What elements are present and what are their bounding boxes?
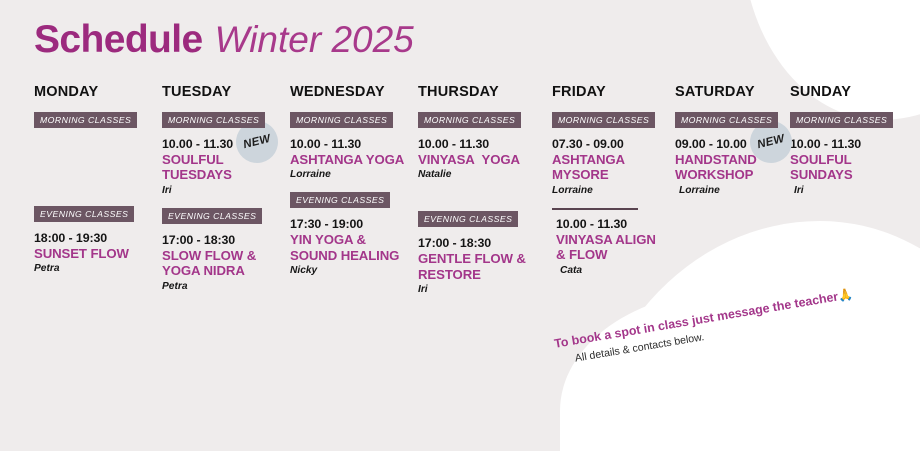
class-title: VINYASA ALIGN & FLOW	[556, 232, 667, 263]
class-time: 10.00 - 11.30	[290, 137, 410, 151]
schedule-poster: ScheduleWinter 2025 MONDAY MORNING CLASS…	[0, 0, 920, 451]
class-entry[interactable]: 10.00 - 11.30 VINYASA YOGA Natalie	[418, 137, 544, 180]
section-badge-morning-wednesday: MORNING CLASSES	[290, 112, 393, 128]
class-time: 10.00 - 11.30	[418, 137, 544, 151]
class-entry[interactable]: 17:30 - 19:00 YIN YOGA & SOUND HEALING N…	[290, 217, 410, 276]
page-title: ScheduleWinter 2025	[34, 20, 414, 59]
day-header-monday: MONDAY	[34, 84, 154, 100]
day-column-tuesday: TUESDAY MORNING CLASSES 10.00 - 11.30 SO…	[162, 84, 290, 292]
class-entry[interactable]: 10.00 - 11.30 VINYASA ALIGN & FLOW Cata	[552, 217, 667, 276]
class-title: ASHTANGA YOGA	[290, 152, 410, 167]
day-header-tuesday: TUESDAY	[162, 84, 282, 100]
class-divider	[552, 208, 638, 210]
class-title: SUNSET FLOW	[34, 246, 154, 261]
section-badge-morning-friday: MORNING CLASSES	[552, 112, 655, 128]
section-badge-evening-tuesday: EVENING CLASSES	[162, 208, 262, 224]
class-teacher: Petra	[34, 263, 154, 274]
class-time: 17:00 - 18:30	[162, 233, 282, 247]
class-teacher: Iri	[418, 284, 544, 295]
class-entry[interactable]: 17:00 - 18:30 GENTLE FLOW & RESTORE Iri	[418, 236, 544, 295]
page-title-main: Schedule	[34, 18, 203, 61]
section-badge-morning-thursday: MORNING CLASSES	[418, 112, 521, 128]
class-teacher: Nicky	[290, 265, 410, 276]
class-time: 10.00 - 11.30	[790, 137, 888, 151]
class-title: YIN YOGA & SOUND HEALING	[290, 232, 410, 263]
class-teacher: Lorraine	[679, 185, 782, 196]
section-badge-morning-monday: MORNING CLASSES	[34, 112, 137, 128]
class-teacher: Petra	[162, 281, 282, 292]
page-title-season: Winter 2025	[215, 19, 414, 60]
day-header-friday: FRIDAY	[552, 84, 667, 100]
class-title: SLOW FLOW & YOGA NIDRA	[162, 248, 282, 279]
class-time: 10.00 - 11.30	[556, 217, 667, 231]
class-teacher: Natalie	[418, 169, 544, 180]
class-time: 17:30 - 19:00	[290, 217, 410, 231]
class-entry[interactable]: 10.00 - 11.30 SOULFUL SUNDAYS Iri	[790, 137, 888, 196]
section-badge-morning-tuesday: MORNING CLASSES	[162, 112, 265, 128]
evening-section-wednesday: EVENING CLASSES 17:30 - 19:00 YIN YOGA &…	[290, 190, 410, 276]
class-title: GENTLE FLOW & RESTORE	[418, 251, 544, 282]
class-time: 07.30 - 09.00	[552, 137, 667, 151]
class-teacher: Lorraine	[552, 185, 667, 196]
class-teacher: Cata	[560, 265, 667, 276]
class-teacher: Lorraine	[290, 169, 410, 180]
prayer-hands-icon: 🙏	[837, 287, 854, 303]
class-entry[interactable]: 07.30 - 09.00 ASHTANGA MYSORE Lorraine	[552, 137, 667, 196]
section-badge-morning-saturday: MORNING CLASSES	[675, 112, 778, 128]
section-badge-evening-wednesday: EVENING CLASSES	[290, 192, 390, 208]
class-entry[interactable]: 10.00 - 11.30 ASHTANGA YOGA Lorraine	[290, 137, 410, 180]
class-time: 18:00 - 19:30	[34, 231, 154, 245]
class-title: SOULFUL SUNDAYS	[790, 152, 888, 183]
day-column-friday: FRIDAY MORNING CLASSES 07.30 - 09.00 ASH…	[552, 84, 675, 276]
class-teacher: Iri	[162, 185, 282, 196]
evening-section-thursday: EVENING CLASSES 17:00 - 18:30 GENTLE FLO…	[418, 209, 544, 295]
class-entry[interactable]: 18:00 - 19:30 SUNSET FLOW Petra	[34, 231, 154, 274]
day-header-saturday: SATURDAY	[675, 84, 782, 100]
class-title: VINYASA YOGA	[418, 152, 544, 167]
class-teacher: Iri	[794, 185, 888, 196]
class-entry[interactable]: 17:00 - 18:30 SLOW FLOW & YOGA NIDRA Pet…	[162, 233, 282, 292]
class-title: ASHTANGA MYSORE	[552, 152, 667, 183]
day-column-monday: MONDAY MORNING CLASSES EVENING CLASSES 1…	[34, 84, 162, 274]
section-badge-evening-thursday: EVENING CLASSES	[418, 211, 518, 227]
day-header-sunday: SUNDAY	[790, 84, 888, 100]
section-badge-morning-sunday: MORNING CLASSES	[790, 112, 893, 128]
day-column-wednesday: WEDNESDAY MORNING CLASSES 10.00 - 11.30 …	[290, 84, 418, 276]
evening-section-tuesday: EVENING CLASSES 17:00 - 18:30 SLOW FLOW …	[162, 206, 282, 292]
section-badge-evening-monday: EVENING CLASSES	[34, 206, 134, 222]
day-column-sunday: SUNDAY MORNING CLASSES 10.00 - 11.30 SOU…	[790, 84, 896, 196]
schedule-grid: MONDAY MORNING CLASSES EVENING CLASSES 1…	[34, 84, 896, 295]
booking-note: To book a spot in class just message the…	[553, 286, 857, 369]
day-header-wednesday: WEDNESDAY	[290, 84, 410, 100]
day-column-thursday: THURSDAY MORNING CLASSES 10.00 - 11.30 V…	[418, 84, 552, 295]
day-header-thursday: THURSDAY	[418, 84, 544, 100]
class-time: 17:00 - 18:30	[418, 236, 544, 250]
evening-section-monday: EVENING CLASSES 18:00 - 19:30 SUNSET FLO…	[34, 204, 154, 274]
